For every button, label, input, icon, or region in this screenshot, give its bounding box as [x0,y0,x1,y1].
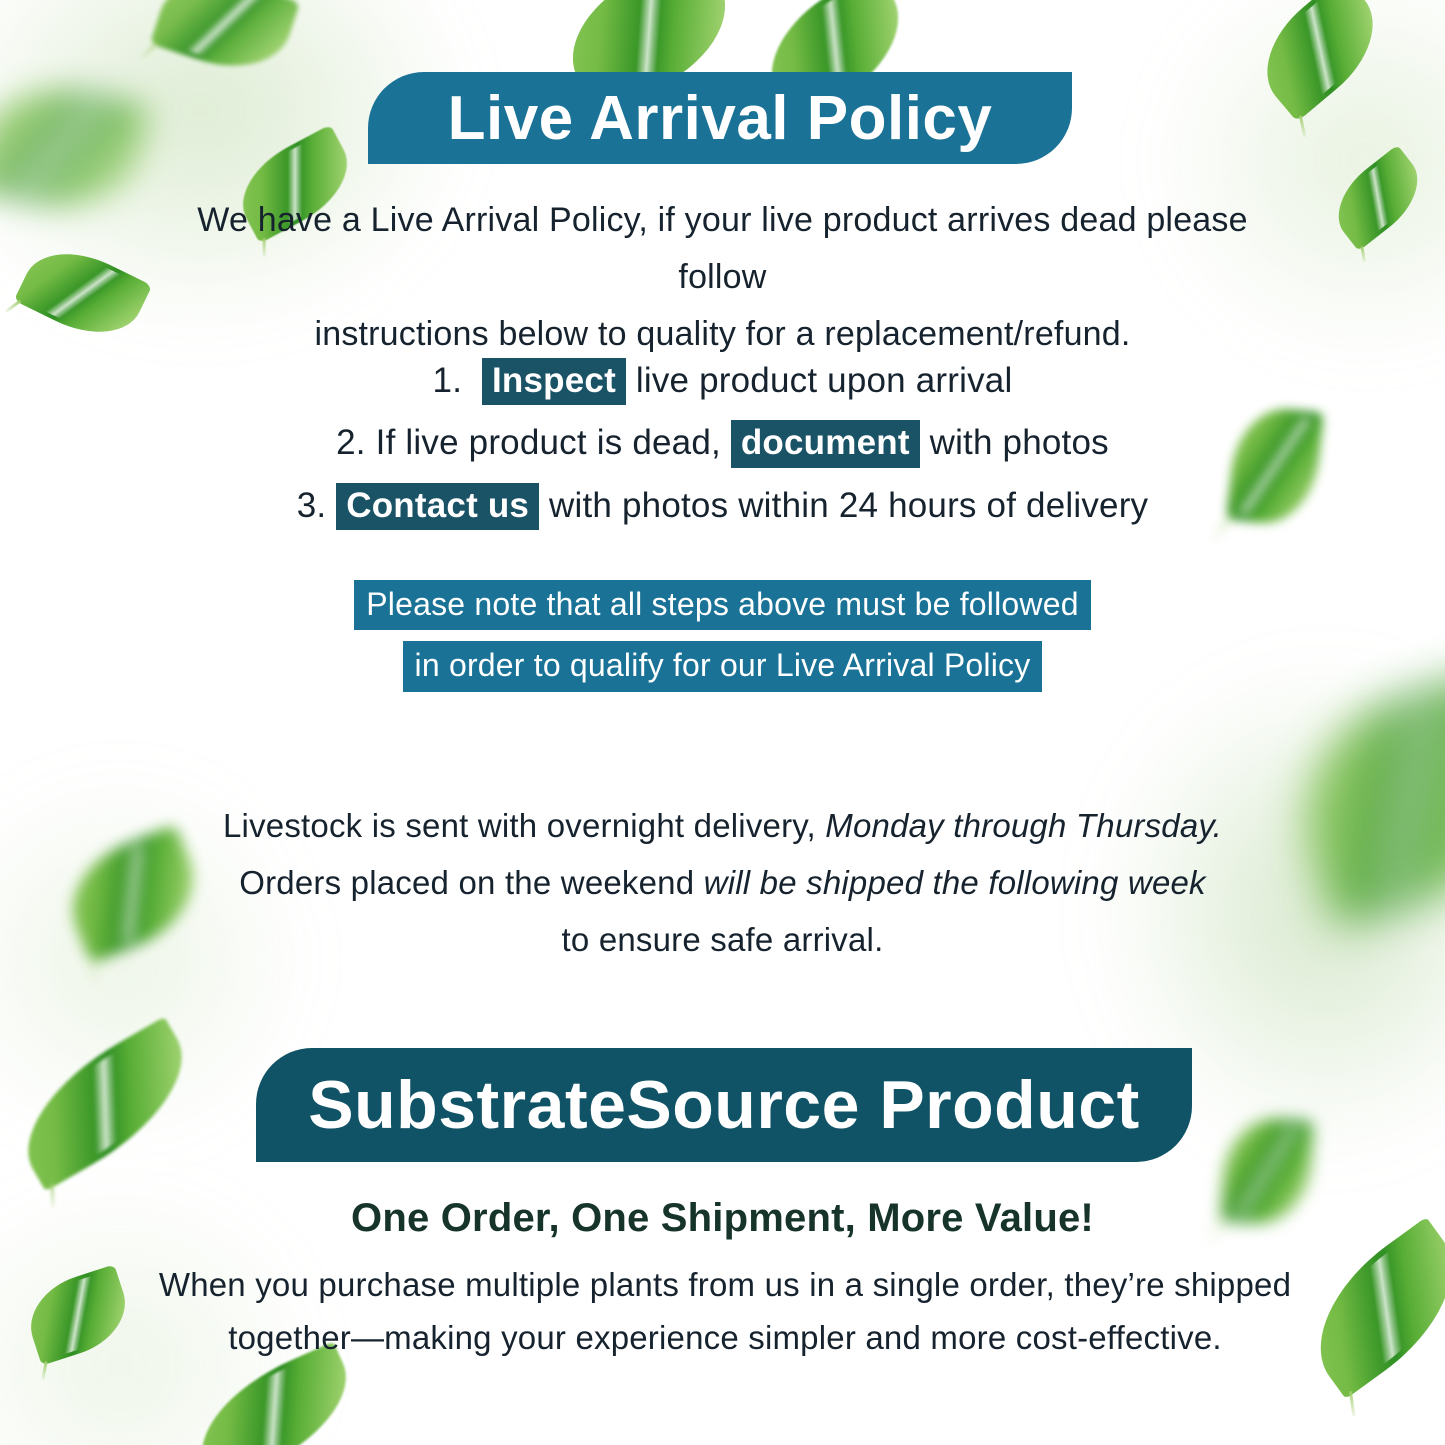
value-line-2: together—making your experience simpler … [150,1311,1300,1364]
note-line-1: Please note that all steps above must be… [354,580,1090,630]
shipping-line-1-plain: Livestock is sent with overnight deliver… [223,807,825,844]
value-subheading: One Order, One Shipment, More Value! [150,1196,1295,1241]
step-number: 2. [336,423,366,462]
step-before-text [326,486,336,525]
shipping-schedule-paragraph: Livestock is sent with overnight deliver… [180,798,1265,968]
shipping-line-1-italic: Monday through Thursday. [825,807,1222,844]
note-line-2: in order to qualify for our Live Arrival… [403,641,1043,691]
leaf-icon [1287,1217,1445,1399]
shipping-line-2: Orders placed on the weekend will be shi… [180,855,1265,912]
step-after-text: with photos within 24 hours of delivery [539,486,1148,525]
list-item: 3. Contact us with photos within 24 hour… [150,475,1295,537]
leaf-icon [1322,145,1435,251]
value-line-1: When you purchase multiple plants from u… [150,1258,1300,1311]
leaf-icon [1243,0,1397,122]
leaf-icon [19,1264,137,1365]
shipping-line-3: to ensure safe arrival. [180,912,1265,969]
live-arrival-policy-banner: Live Arrival Policy [368,72,1072,164]
leaf-icon [0,1017,210,1192]
promo-graphic-page: Live Arrival Policy We have a Live Arriv… [0,0,1445,1445]
shipping-line-2-plain: Orders placed on the weekend [239,864,703,901]
leaf-icon [150,0,300,84]
substratesource-product-banner: SubstrateSource Product [256,1048,1192,1162]
intro-line-1: We have a Live Arrival Policy, if your l… [150,192,1295,306]
step-highlight-document: document [731,420,920,467]
leaf-icon [1274,671,1445,929]
shipping-line-2-italic: will be shipped the following week [704,864,1206,901]
leaf-icon [0,73,151,224]
note-row-2: in order to qualify for our Live Arrival… [150,641,1295,691]
step-highlight-inspect: Inspect [482,358,626,405]
note-row-1: Please note that all steps above must be… [150,580,1295,630]
shipping-line-1: Livestock is sent with overnight deliver… [180,798,1265,855]
value-paragraph: When you purchase multiple plants from u… [150,1258,1300,1365]
step-number: 3. [297,486,327,525]
step-after-text: with photos [920,423,1109,462]
policy-note-block: Please note that all steps above must be… [150,580,1295,703]
list-item: 2. If live product is dead, document wit… [150,412,1295,474]
intro-paragraph: We have a Live Arrival Policy, if your l… [150,192,1295,363]
list-item: 1. Inspect live product upon arrival [150,350,1295,412]
step-number: 1. [433,361,463,400]
step-before-text: If live product is dead, [366,423,731,462]
step-highlight-contact-us: Contact us [336,483,539,530]
step-after-text: live product upon arrival [626,361,1013,400]
policy-steps-list: 1. Inspect live product upon arrival 2. … [150,350,1295,537]
leaf-icon [14,234,152,352]
